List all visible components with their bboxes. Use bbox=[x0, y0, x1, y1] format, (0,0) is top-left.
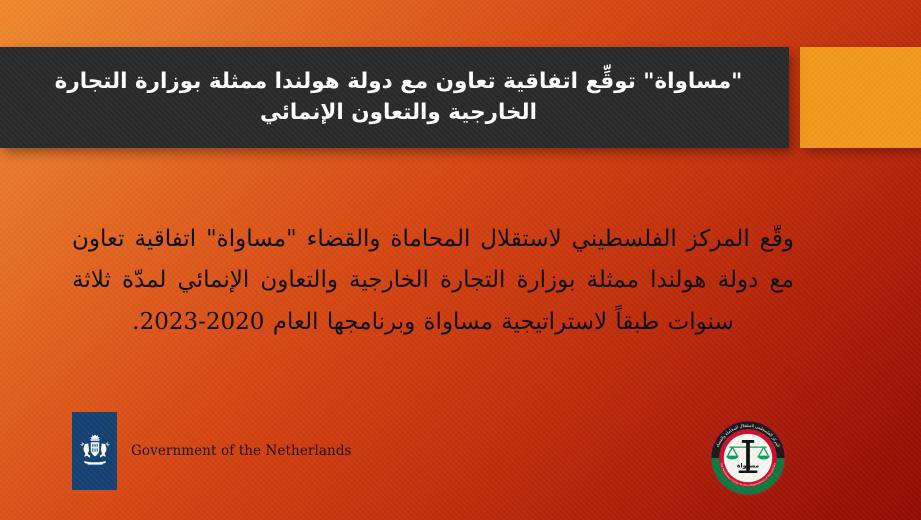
netherlands-logo-wordmark: Government of the Netherlands bbox=[131, 443, 352, 459]
svg-text:مساواة: مساواة bbox=[737, 462, 759, 469]
scales-of-justice-icon: المركز الفلسطيني لاستقلال المحاماة والقض… bbox=[709, 419, 787, 497]
presentation-slide: "مساواة" توقِّع اتفاقية تعاون مع دولة هو… bbox=[0, 0, 921, 520]
musawa-organization-logo: المركز الفلسطيني لاستقلال المحاماة والقض… bbox=[709, 419, 787, 497]
title-banner: "مساواة" توقِّع اتفاقية تعاون مع دولة هو… bbox=[0, 47, 789, 148]
netherlands-coat-of-arms-icon bbox=[76, 432, 114, 470]
page-title: "مساواة" توقِّع اتفاقية تعاون مع دولة هو… bbox=[0, 67, 789, 128]
netherlands-logo-block bbox=[72, 412, 117, 490]
body-content: وقّع المركز الفلسطيني لاستقلال المحاماة … bbox=[72, 196, 794, 366]
orange-accent-block bbox=[800, 47, 921, 148]
netherlands-government-logo: Government of the Netherlands bbox=[72, 412, 352, 490]
body-paragraph: وقّع المركز الفلسطيني لاستقلال المحاماة … bbox=[72, 219, 794, 343]
